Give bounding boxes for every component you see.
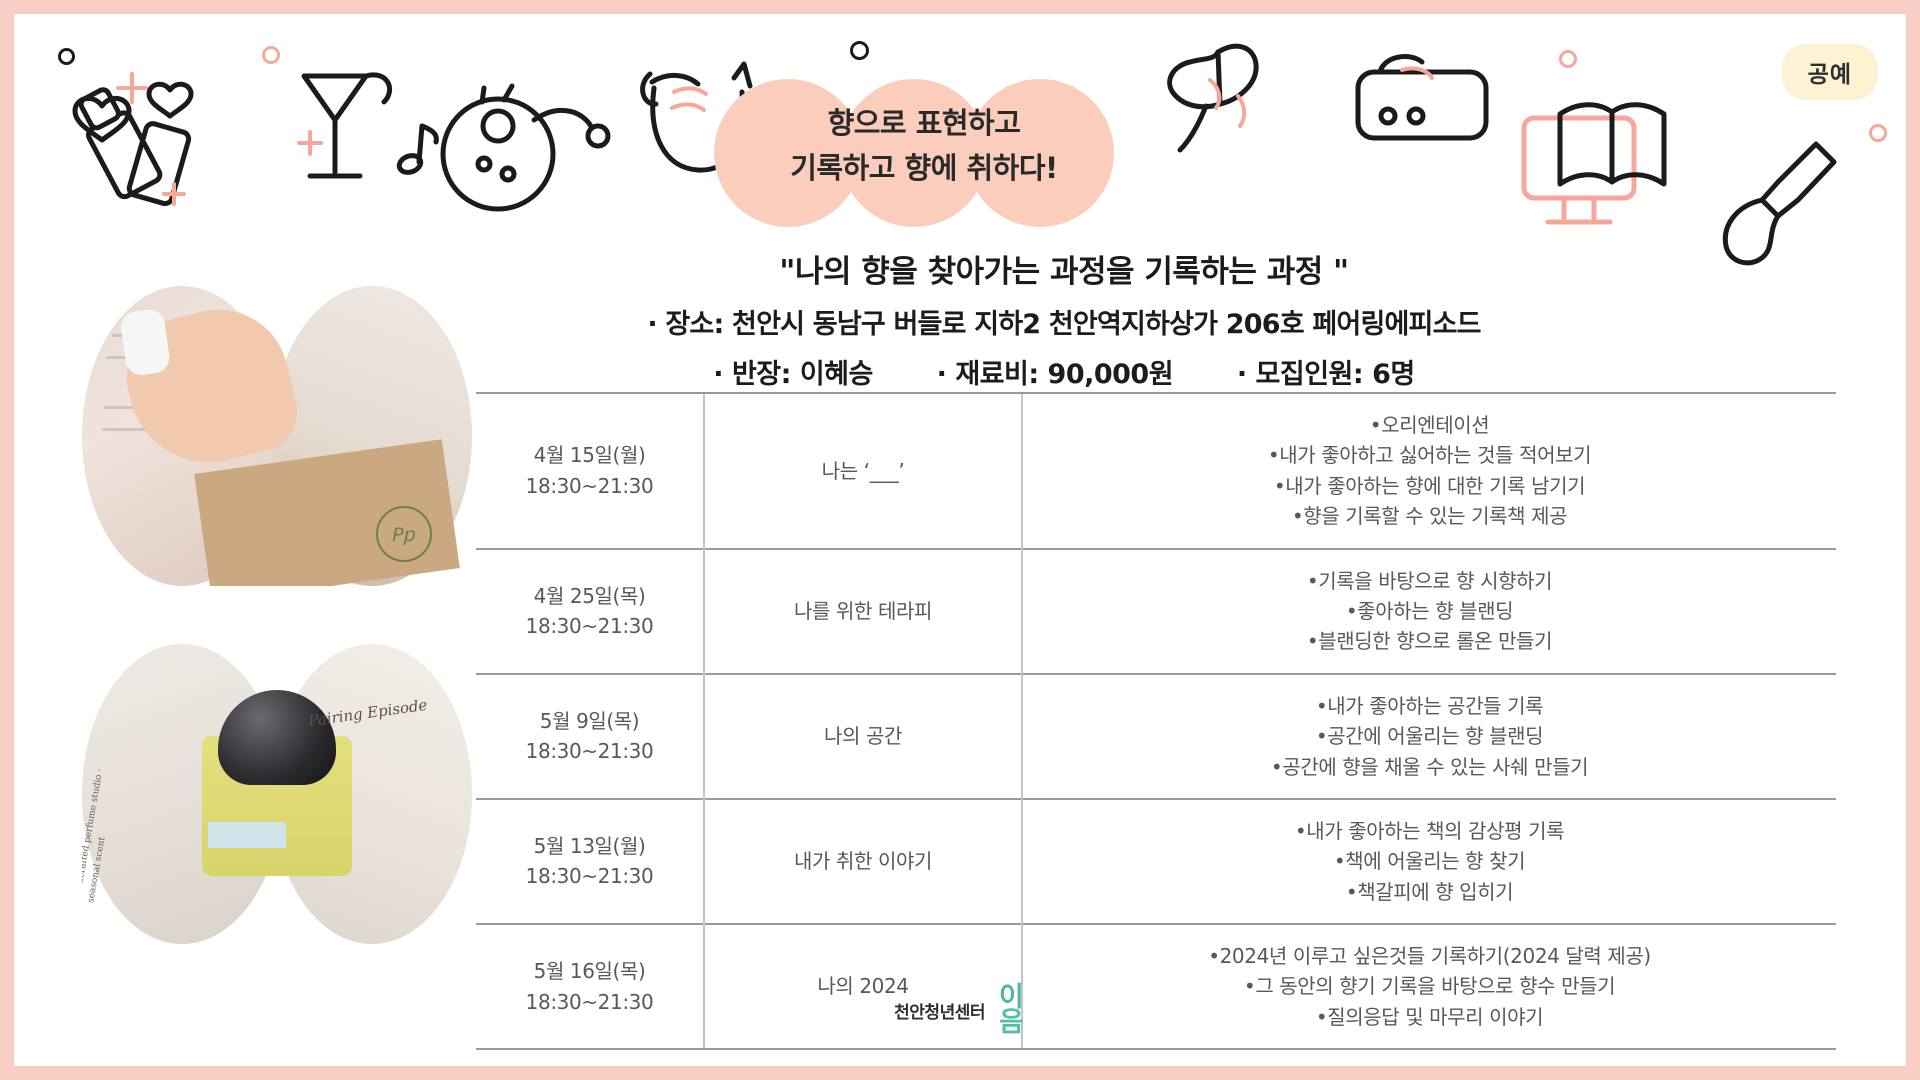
- table-row: 5월 13일(월)18:30~21:30 내가 취한 이야기 •내가 좋아하는 …: [476, 799, 1836, 924]
- eum-logo-icon: 이 음: [999, 985, 1026, 1036]
- ring-dot-icon: [1869, 124, 1887, 142]
- row-description: •내가 좋아하는 책의 감상평 기록•책에 어울리는 향 찾기•책갈피에 향 입…: [1022, 799, 1836, 924]
- table-row: 5월 9일(목)18:30~21:30 나의 공간 •내가 좋아하는 공간들 기…: [476, 674, 1836, 799]
- row-description: •기록을 바탕으로 향 시향하기•좋아하는 향 블랜딩•블랜딩한 향으로 롤온 …: [1022, 549, 1836, 674]
- row-title: 내가 취한 이야기: [704, 799, 1022, 924]
- photo-hand-writing: Pp: [82, 286, 472, 586]
- jar-label: [208, 822, 286, 848]
- headline-blobs: 향으로 표현하고 기록하고 향에 취하다!: [714, 79, 1134, 229]
- row-description: •오리엔테이션•내가 좋아하고 싫어하는 것들 적어보기•내가 좋아하는 향에 …: [1022, 393, 1836, 549]
- ring-dot-icon: [58, 48, 75, 65]
- schedule-body: 4월 15일(월)18:30~21:30 나는 ‘___’ •오리엔테이션•내가…: [476, 393, 1836, 1049]
- footer-org-name: 천안청년센터: [894, 998, 985, 1023]
- photo-perfume-jar: Pairing Episode handcrafted perfume stud…: [82, 644, 472, 944]
- program-fee: · 재료비: 90,000원: [937, 359, 1173, 390]
- header-info: "나의 향을 찾아가는 과정을 기록하는 과정 " · 장소: 천안시 동남구 …: [474, 246, 1654, 391]
- row-title: 나는 ‘___’: [704, 393, 1022, 549]
- cocktail-glass-icon: [304, 75, 390, 176]
- ring-dot-icon: [850, 41, 869, 60]
- program-leader: · 반장: 이혜승: [713, 359, 873, 390]
- paint-brush-icon: [1725, 144, 1834, 263]
- ring-dot-icon: [262, 46, 280, 64]
- monitor-icon: [1524, 118, 1634, 222]
- schedule-table: 4월 15일(월)18:30~21:30 나는 ‘___’ •오리엔테이션•내가…: [476, 392, 1836, 1050]
- row-date: 5월 9일(목)18:30~21:30: [476, 674, 704, 799]
- flower-pot-icon: [443, 86, 608, 209]
- program-meta: · 반장: 이혜승 · 재료비: 90,000원 · 모집인원: 6명: [474, 352, 1654, 391]
- headline-text: 향으로 표현하고 기록하고 향에 취하다!: [714, 101, 1134, 191]
- program-capacity: · 모집인원: 6명: [1237, 359, 1415, 390]
- poster-frame: 공예 향으로 표현하고 기록하고 향에 취하다! "나의 향을 찾아가는 과정을…: [0, 0, 1920, 1080]
- row-title: 나의 공간: [704, 674, 1022, 799]
- music-note-icon: [397, 126, 436, 175]
- row-title: 나를 위한 테라피: [704, 549, 1022, 674]
- ring-dot-icon: [1559, 50, 1577, 68]
- table-row: 4월 25일(목)18:30~21:30 나를 위한 테라피 •기록을 바탕으로…: [476, 549, 1836, 674]
- category-badge: 공예: [1782, 44, 1878, 100]
- program-title: "나의 향을 찾아가는 과정을 기록하는 과정 ": [474, 246, 1654, 291]
- row-description: •내가 좋아하는 공간들 기록•공간에 어울리는 향 블랜딩•공간에 향을 채울…: [1022, 674, 1836, 799]
- footer-logo: 천안청년센터 이 음: [14, 985, 1906, 1036]
- headline-line-1: 향으로 표현하고: [714, 101, 1134, 146]
- row-date: 4월 25일(목)18:30~21:30: [476, 549, 704, 674]
- row-date: 5월 13일(월)18:30~21:30: [476, 799, 704, 924]
- headline-line-2: 기록하고 향에 취하다!: [714, 146, 1134, 191]
- makeup-brush-icon: [1170, 46, 1256, 150]
- logo-char-bottom: 음: [999, 1010, 1026, 1036]
- program-place: · 장소: 천안시 동남구 버들로 지하2 천안역지하상가 206호 페어링에피…: [474, 302, 1654, 341]
- row-date: 4월 15일(월)18:30~21:30: [476, 393, 704, 549]
- poster-canvas: 공예 향으로 표현하고 기록하고 향에 취하다! "나의 향을 찾아가는 과정을…: [14, 14, 1906, 1066]
- table-row: 4월 15일(월)18:30~21:30 나는 ‘___’ •오리엔테이션•내가…: [476, 393, 1836, 549]
- photo-stamp: Pp: [376, 506, 432, 562]
